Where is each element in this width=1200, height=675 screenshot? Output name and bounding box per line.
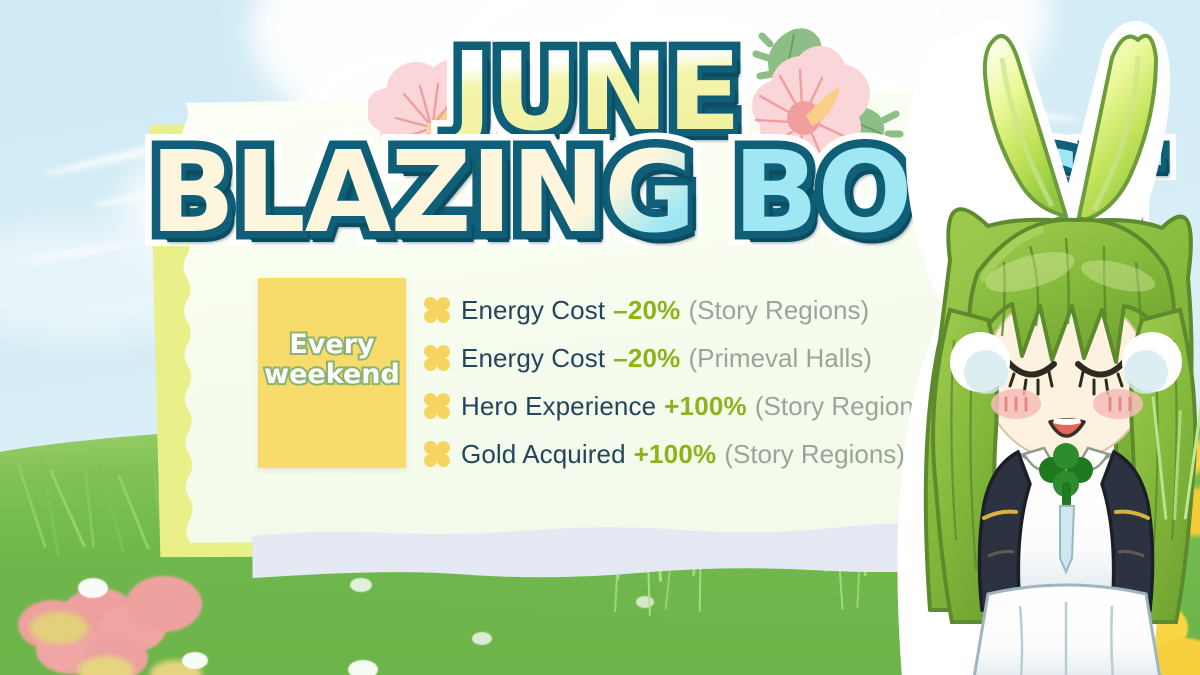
benefit-value: +100% — [634, 439, 717, 470]
ribbon-label: Every weekend — [258, 330, 406, 390]
ribbon-label-line1: Every — [289, 329, 374, 360]
clover-bullet-icon — [424, 393, 450, 419]
list-item: Hero Experience +100% (Story Regions) — [424, 382, 954, 430]
green-haired-bunny-girl-character — [880, 10, 1200, 675]
benefit-value: –20% — [613, 295, 680, 326]
list-item: Energy Cost –20% (Story Regions) — [424, 286, 954, 334]
ribbon-zigzag-edge — [258, 444, 406, 468]
benefit-value: –20% — [613, 343, 680, 374]
benefit-label: Energy Cost — [461, 343, 605, 374]
clover-bullet-icon — [424, 345, 450, 371]
benefit-label: Hero Experience — [461, 391, 656, 422]
every-weekend-ribbon: Every weekend — [258, 278, 406, 468]
clover-bullet-icon — [424, 441, 450, 467]
list-item: Gold Acquired +100% (Story Regions) — [424, 430, 954, 478]
benefit-note: (Story Regions) — [724, 439, 905, 470]
benefit-note: (Story Regions) — [688, 295, 869, 326]
benefit-label: Gold Acquired — [461, 439, 626, 470]
benefit-label: Energy Cost — [461, 295, 605, 326]
ribbon-label-line2: weekend — [258, 360, 406, 390]
benefit-note: (Primeval Halls) — [688, 343, 871, 374]
benefits-list: Energy Cost –20% (Story Regions) Energy … — [424, 286, 954, 478]
banner-stage: JUNE JUNE JUNE JUNE BLAZING BOOST BLAZIN… — [0, 0, 1200, 675]
skirt — [972, 585, 1162, 675]
clover-bullet-icon — [424, 297, 450, 323]
list-item: Energy Cost –20% (Primeval Halls) — [424, 334, 954, 382]
benefit-value: +100% — [664, 391, 747, 422]
